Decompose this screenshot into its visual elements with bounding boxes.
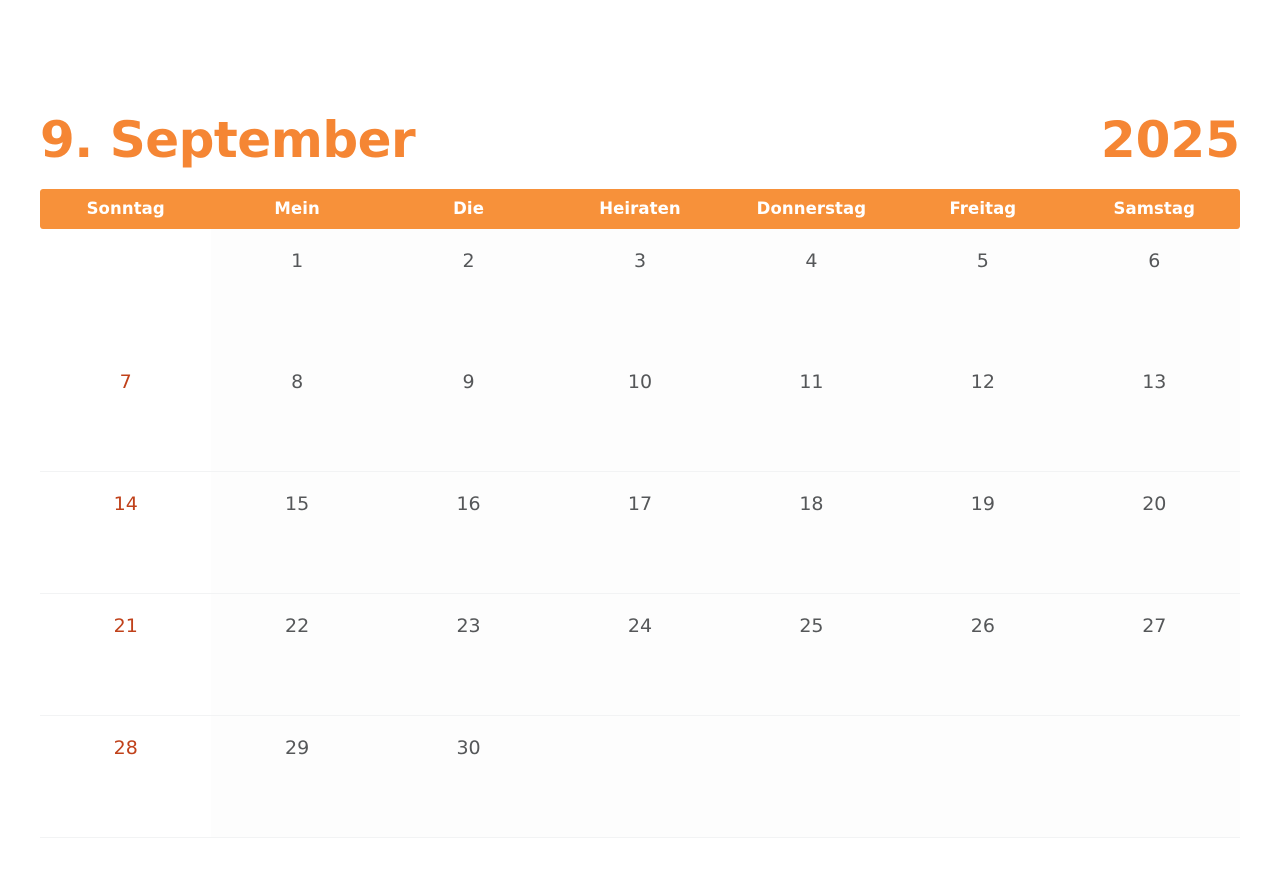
day-number: 9 [463,371,475,393]
day-number: 10 [628,371,652,393]
day-cell[interactable]: 20 [1069,472,1240,593]
day-cell[interactable] [1069,716,1240,837]
day-cell[interactable]: 12 [897,350,1068,471]
day-cell[interactable]: 28 [40,716,211,837]
day-cell[interactable] [40,229,211,350]
day-cell[interactable]: 16 [383,472,554,593]
day-cell[interactable]: 30 [383,716,554,837]
day-cell[interactable]: 22 [211,594,382,715]
calendar-page: 9. September 2025 Sonntag Mein Die Heira… [0,0,1280,880]
day-number: 3 [634,250,646,272]
weekday-header-samstag: Samstag [1069,201,1240,218]
day-number: 1 [291,250,303,272]
day-cell[interactable]: 26 [897,594,1068,715]
day-cell[interactable]: 10 [554,350,725,471]
day-number: 13 [1142,371,1166,393]
day-number: 7 [120,371,132,393]
day-cell[interactable]: 7 [40,350,211,471]
day-cell[interactable]: 5 [897,229,1068,350]
day-number: 19 [971,493,995,515]
weekday-header-heiraten: Heiraten [554,201,725,218]
day-cell[interactable]: 1 [211,229,382,350]
weekday-header-die: Die [383,201,554,218]
day-number: 12 [971,371,995,393]
day-number: 29 [285,737,309,759]
day-number: 21 [114,615,138,637]
day-cell[interactable]: 24 [554,594,725,715]
day-cell[interactable]: 18 [726,472,897,593]
day-number: 26 [971,615,995,637]
day-number: 16 [456,493,480,515]
day-cell[interactable]: 25 [726,594,897,715]
day-number: 11 [799,371,823,393]
day-cell[interactable] [554,716,725,837]
day-number: 28 [114,737,138,759]
day-cell[interactable]: 15 [211,472,382,593]
day-number: 4 [805,250,817,272]
day-cell[interactable]: 3 [554,229,725,350]
day-number: 20 [1142,493,1166,515]
week-row: 7 8 9 10 11 12 13 [40,350,1240,472]
day-cell[interactable]: 9 [383,350,554,471]
day-cell[interactable]: 11 [726,350,897,471]
week-row: 28 29 30 [40,716,1240,838]
calendar-grid: Sonntag Mein Die Heiraten Donnerstag Fre… [40,189,1240,838]
day-number: 8 [291,371,303,393]
day-cell[interactable]: 19 [897,472,1068,593]
day-cell[interactable]: 13 [1069,350,1240,471]
day-number: 22 [285,615,309,637]
day-cell[interactable]: 23 [383,594,554,715]
day-number: 6 [1148,250,1160,272]
day-cell[interactable]: 6 [1069,229,1240,350]
day-number: 14 [114,493,138,515]
day-cell[interactable] [726,716,897,837]
day-number: 18 [799,493,823,515]
week-row: 1 2 3 4 5 6 [40,229,1240,350]
page-title-year: 2025 [1101,115,1240,165]
day-cell[interactable]: 17 [554,472,725,593]
day-cell[interactable]: 27 [1069,594,1240,715]
day-number: 17 [628,493,652,515]
weekday-header-sonntag: Sonntag [40,201,211,218]
day-number: 15 [285,493,309,515]
day-cell[interactable]: 2 [383,229,554,350]
day-cell[interactable]: 8 [211,350,382,471]
day-number: 5 [977,250,989,272]
day-number: 23 [456,615,480,637]
day-number: 2 [463,250,475,272]
page-title-month: 9. September [40,115,415,165]
weekday-header-donnerstag: Donnerstag [726,201,897,218]
weekday-header-row: Sonntag Mein Die Heiraten Donnerstag Fre… [40,189,1240,229]
day-cell[interactable]: 4 [726,229,897,350]
day-cell[interactable]: 21 [40,594,211,715]
calendar-title-row: 9. September 2025 [40,100,1240,180]
week-row: 21 22 23 24 25 26 27 [40,594,1240,716]
day-number: 30 [456,737,480,759]
weekday-header-freitag: Freitag [897,201,1068,218]
day-cell[interactable]: 14 [40,472,211,593]
day-number: 25 [799,615,823,637]
day-cell[interactable] [897,716,1068,837]
weekday-header-mein: Mein [211,201,382,218]
day-number: 24 [628,615,652,637]
week-row: 14 15 16 17 18 19 20 [40,472,1240,594]
day-cell[interactable]: 29 [211,716,382,837]
day-number: 27 [1142,615,1166,637]
